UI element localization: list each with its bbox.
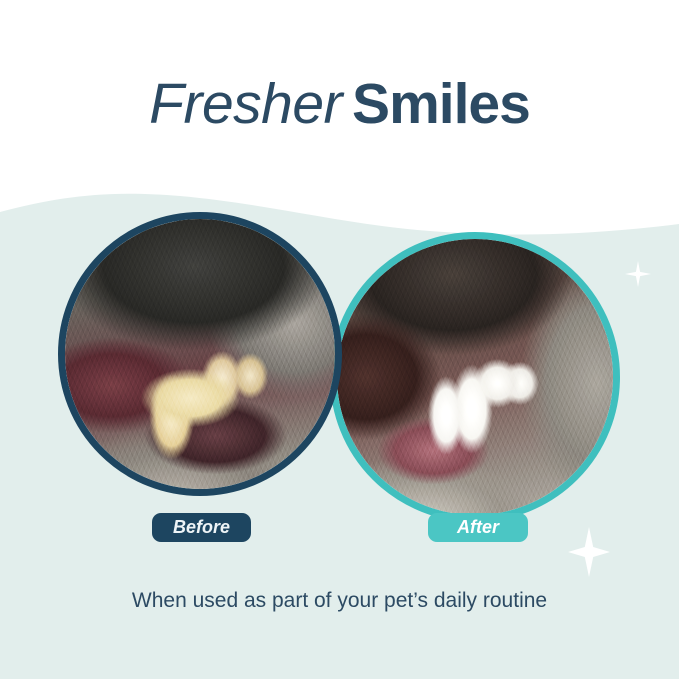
title-word-smiles: Smiles <box>352 72 530 136</box>
before-photo <box>65 219 335 489</box>
after-photo-circle <box>330 232 620 522</box>
title-word-fresher: Fresher <box>149 72 342 136</box>
before-photo-circle <box>58 212 342 496</box>
after-photo-texture <box>337 239 613 515</box>
before-label-badge: Before <box>152 513 251 542</box>
after-label-badge: After <box>428 513 528 542</box>
promo-graphic: FresherSmiles Before After When used as … <box>0 0 679 679</box>
page-title: FresherSmiles <box>0 72 679 136</box>
before-photo-texture <box>65 219 335 489</box>
caption-text: When used as part of your pet’s daily ro… <box>0 587 679 615</box>
after-photo <box>337 239 613 515</box>
